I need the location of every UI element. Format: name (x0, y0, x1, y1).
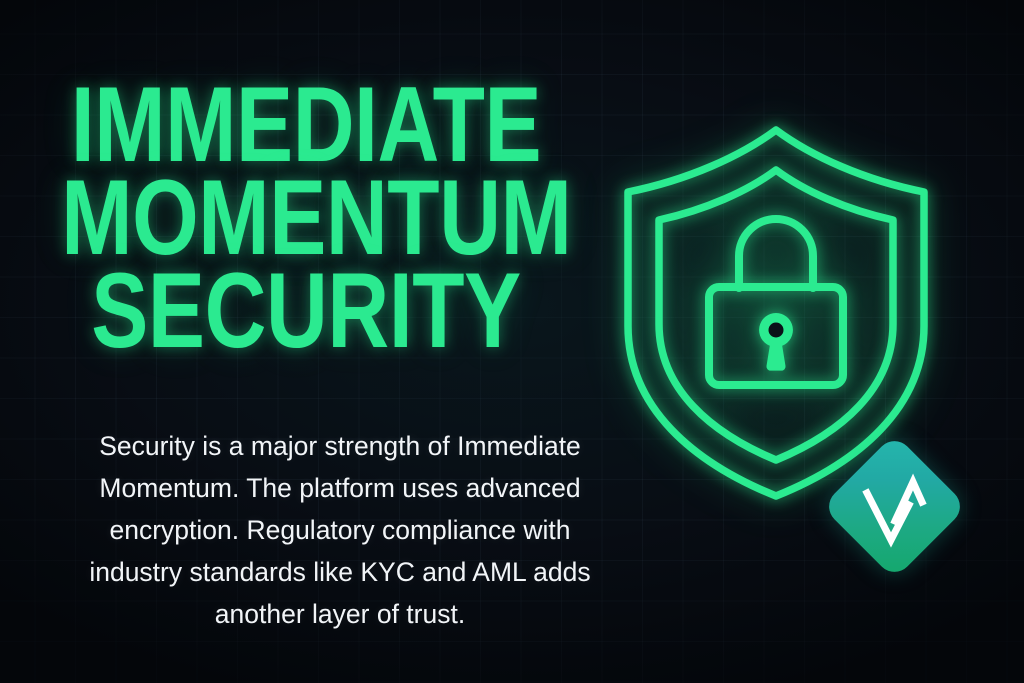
body-paragraph: Security is a major strength of Immediat… (62, 425, 618, 635)
keyhole-center (769, 323, 784, 338)
brand-diamond-logo (822, 434, 968, 580)
promo-banner: IMMEDIATE MOMENTUM SECURITY Security is … (0, 0, 1024, 683)
page-title: IMMEDIATE MOMENTUM SECURITY (0, 78, 612, 357)
headline-line-3: SECURITY (61, 264, 551, 357)
brand-monogram-icon (843, 455, 946, 558)
